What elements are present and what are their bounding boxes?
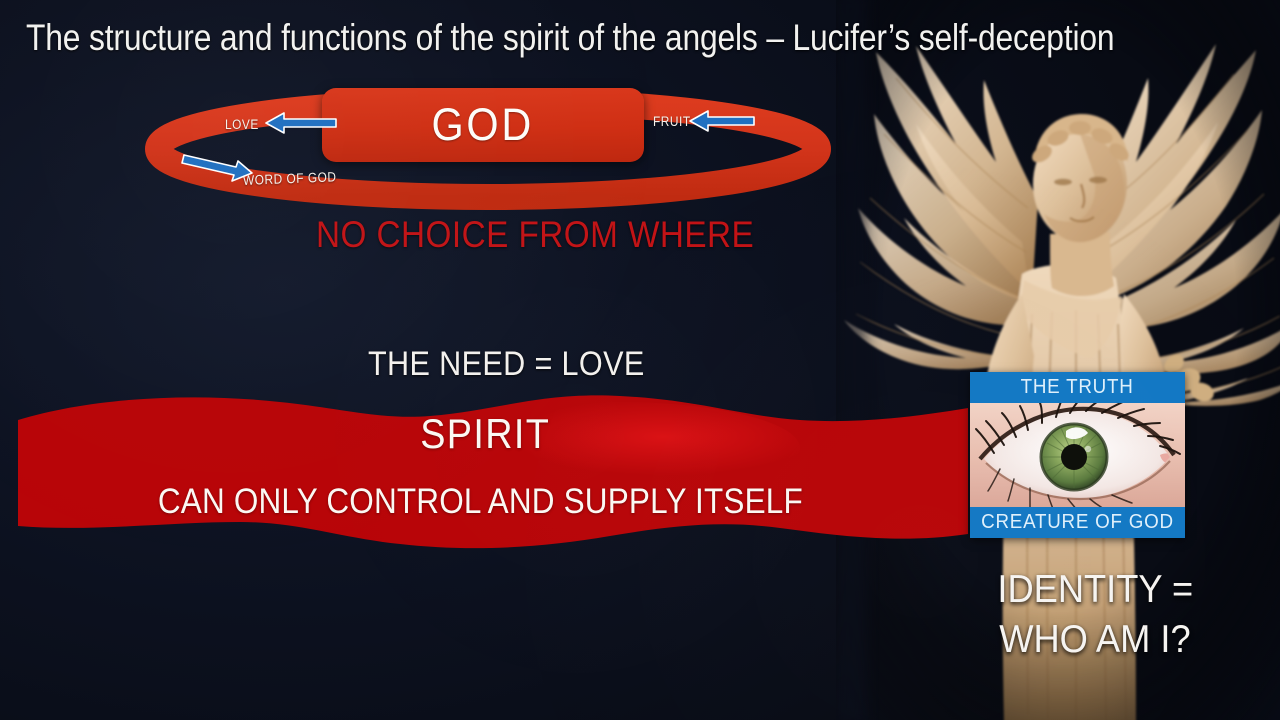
god-center-box: GOD	[322, 88, 644, 162]
identity-line-1: IDENTITY =	[960, 565, 1230, 615]
identity-line-2: WHO AM I?	[960, 615, 1230, 665]
eye-panel-top-label: THE TRUTH	[1021, 376, 1134, 399]
eye-panel-bottom-bar: CREATURE OF GOD	[970, 507, 1185, 538]
no-choice-caption: NO CHOICE FROM WHERE	[316, 214, 754, 256]
eye-panel-bottom-label: CREATURE OF GOD	[981, 511, 1174, 534]
identity-text-block: IDENTITY = WHO AM I?	[960, 565, 1230, 665]
truth-eye-panel: THE TRUTH	[970, 372, 1185, 538]
ring-label-love: LOVE	[225, 117, 259, 132]
spirit-title-text: SPIRIT	[420, 410, 550, 458]
god-label: GOD	[432, 99, 535, 151]
eye-panel-top-bar: THE TRUTH	[970, 372, 1185, 403]
ring-label-fruit: FRUIT	[653, 114, 691, 129]
spirit-title: SPIRIT	[0, 410, 970, 458]
human-eye-image	[970, 403, 1185, 507]
need-line: THE NEED = LOVE	[368, 345, 645, 384]
spirit-subtitle-text: CAN ONLY CONTROL AND SUPPLY ITSELF	[157, 482, 802, 522]
page-title: The structure and functions of the spiri…	[26, 18, 1084, 57]
spirit-subtitle: CAN ONLY CONTROL AND SUPPLY ITSELF	[0, 482, 960, 522]
slide-canvas: The structure and functions of the spiri…	[0, 0, 1280, 720]
